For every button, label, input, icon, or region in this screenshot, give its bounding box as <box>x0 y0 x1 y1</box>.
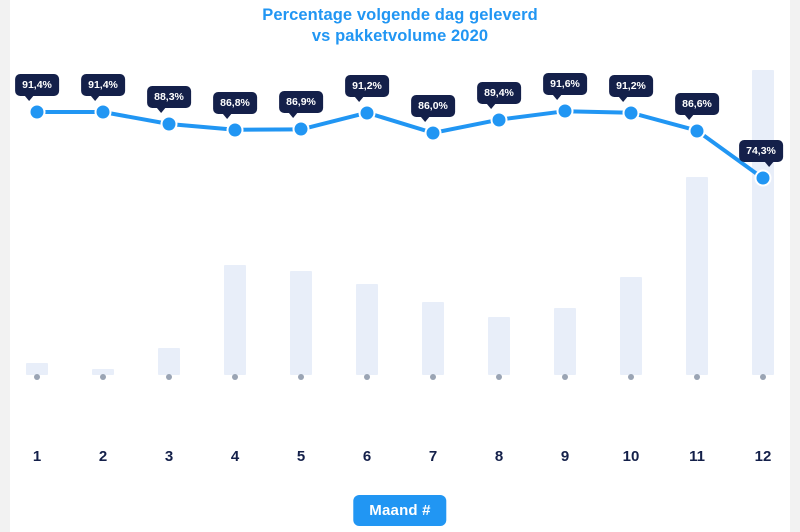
x-tick-label: 6 <box>363 448 371 465</box>
value-callout: 86,8% <box>213 92 257 114</box>
value-callout: 86,0% <box>411 95 455 117</box>
value-callout: 74,3% <box>739 140 783 162</box>
x-tick-label: 7 <box>429 448 437 465</box>
x-tick-label: 8 <box>495 448 503 465</box>
x-tick-label: 4 <box>231 448 239 465</box>
x-tick-label: 12 <box>755 448 772 465</box>
x-tick-label: 2 <box>99 448 107 465</box>
x-tick-label: 5 <box>297 448 305 465</box>
value-callout: 86,6% <box>675 93 719 115</box>
chart-container: Percentage volgende dag geleverd vs pakk… <box>10 0 790 532</box>
chart-title-line-1: Percentage volgende dag geleverd <box>10 5 790 26</box>
x-tick-label: 3 <box>165 448 173 465</box>
x-tick-label: 1 <box>33 448 41 465</box>
x-tick-label: 10 <box>623 448 640 465</box>
value-callout: 89,4% <box>477 82 521 104</box>
x-axis-label-pill: Maand # <box>353 495 446 526</box>
value-callout: 88,3% <box>147 86 191 108</box>
plot-area: 91,4%91,4%88,3%86,8%86,9%91,2%86,0%89,4%… <box>10 60 790 430</box>
chart-title: Percentage volgende dag geleverd vs pakk… <box>10 5 790 47</box>
value-callouts: 91,4%91,4%88,3%86,8%86,9%91,2%86,0%89,4%… <box>10 60 790 430</box>
x-tick-label: 9 <box>561 448 569 465</box>
value-callout: 86,9% <box>279 91 323 113</box>
left-gutter <box>0 0 10 532</box>
value-callout: 91,2% <box>345 75 389 97</box>
x-axis-ticks: 123456789101112 <box>10 448 790 474</box>
right-gutter <box>790 0 800 532</box>
value-callout: 91,4% <box>15 74 59 96</box>
chart-title-line-2: vs pakketvolume 2020 <box>10 26 790 47</box>
value-callout: 91,4% <box>81 74 125 96</box>
value-callout: 91,6% <box>543 73 587 95</box>
x-tick-label: 11 <box>689 448 705 465</box>
value-callout: 91,2% <box>609 75 653 97</box>
